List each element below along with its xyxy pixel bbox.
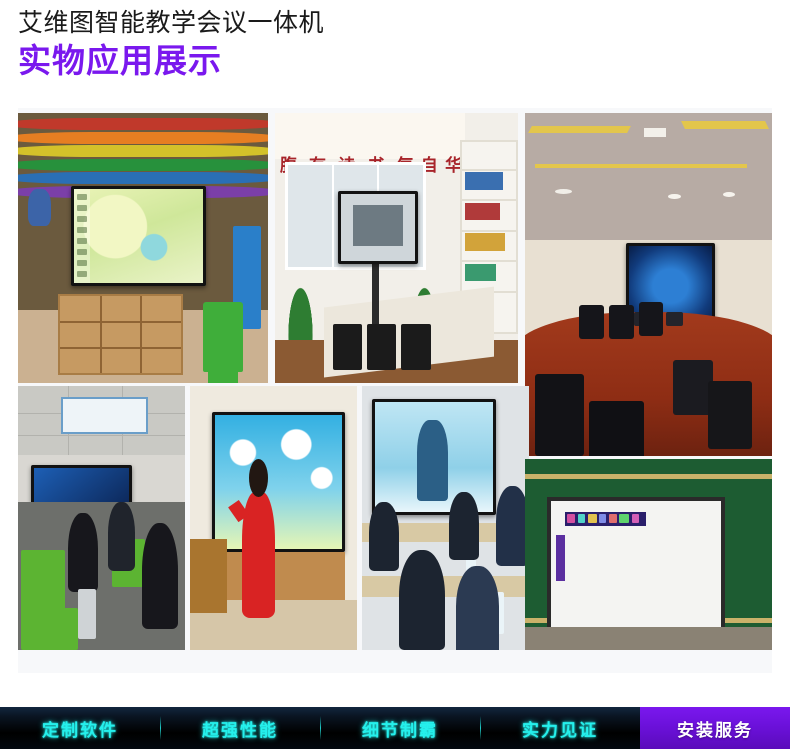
photo-blackboard-scene (525, 459, 772, 650)
touch-panel-screen (212, 412, 346, 552)
nav-item-custom-software[interactable]: 定制软件 (0, 707, 160, 749)
photo-kindergarten-scene (18, 113, 268, 383)
photo-computer-lab[interactable] (18, 386, 185, 650)
product-showcase-page: 艾维图智能教学会议一体机 实物应用展示 (0, 0, 790, 749)
blackboard-panel-screen (547, 497, 725, 635)
nav-item-performance[interactable]: 超强性能 (160, 707, 320, 749)
photo-conference-room[interactable] (525, 113, 772, 456)
page-title: 艾维图智能教学会议一体机 (18, 0, 772, 40)
photo-library-scene: 腹 有 诗 书 气 自 华 (275, 113, 518, 383)
photo-classroom-students[interactable] (362, 386, 529, 650)
photo-conference-scene (525, 113, 772, 456)
lecture-panel-screen (372, 399, 496, 515)
photo-green-blackboard[interactable] (525, 459, 772, 650)
photo-child-touching-screen[interactable] (190, 386, 357, 650)
nav-item-details[interactable]: 细节制霸 (320, 707, 480, 749)
nav-item-label: 定制软件 (42, 716, 118, 741)
mobile-stand-screen (338, 191, 418, 264)
photo-lab-scene (18, 386, 185, 650)
nav-item-label: 细节制霸 (362, 716, 438, 741)
photo-classroom-scene (362, 386, 529, 650)
photo-child-scene (190, 386, 357, 650)
photo-library-meeting-room[interactable]: 腹 有 诗 书 气 自 华 (275, 113, 518, 383)
nav-item-label: 实力见证 (522, 716, 598, 741)
nav-item-label: 超强性能 (202, 716, 278, 741)
nav-item-label: 安装服务 (677, 716, 753, 741)
nav-item-installation-service[interactable]: 安装服务 (640, 707, 790, 749)
interactive-panel-screen (71, 186, 206, 286)
photo-gallery: 腹 有 诗 书 气 自 华 (18, 108, 772, 673)
page-header: 艾维图智能教学会议一体机 实物应用展示 (18, 0, 772, 81)
photo-kindergarten-classroom[interactable] (18, 113, 268, 383)
feature-navbar: 定制软件 超强性能 细节制霸 实力见证 安装服务 (0, 707, 790, 749)
nav-item-strength-proof[interactable]: 实力见证 (480, 707, 640, 749)
page-subtitle: 实物应用展示 (18, 41, 772, 81)
